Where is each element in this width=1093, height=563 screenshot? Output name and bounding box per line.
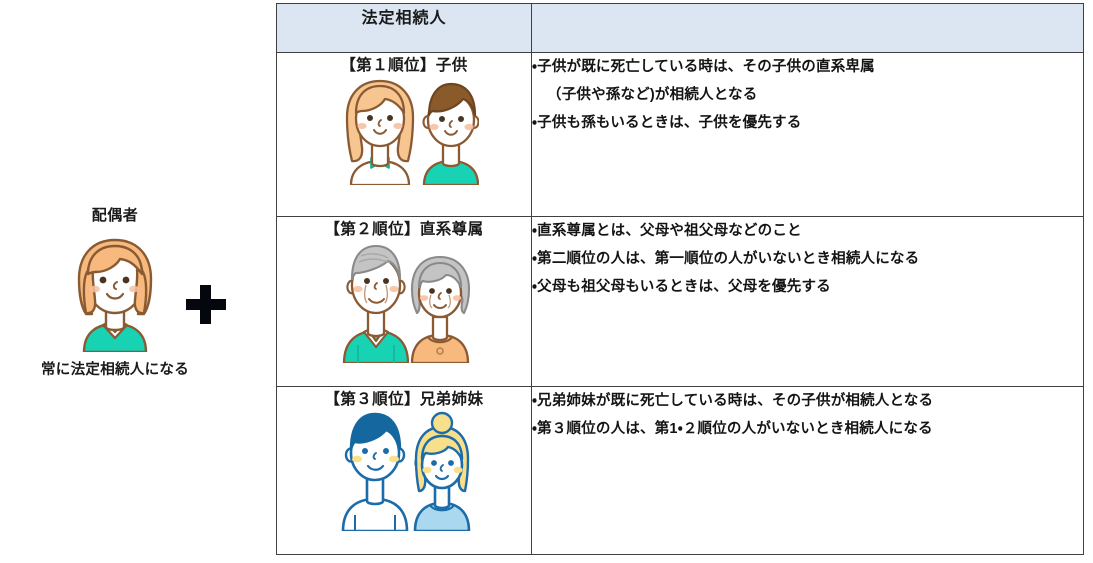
spouse-caption: 常に法定相続人になる — [0, 358, 230, 379]
note-line: ・兄弟姉妹が既に死亡している時は、その子供が相続人となる — [532, 387, 1083, 415]
siblings-figure — [277, 411, 531, 531]
rank-cell-1: 【第１順位】子供 — [277, 53, 532, 217]
header-notes — [532, 4, 1084, 53]
notes-cell-3: ・兄弟姉妹が既に死亡している時は、その子供が相続人となる ・第３順位の人は、第1… — [532, 387, 1084, 555]
notes-cell-2: ・直系尊属とは、父母や祖父母などのこと ・第二順位の人は、第一順位の人がいないと… — [532, 217, 1084, 387]
note-line: ・直系尊属とは、父母や祖父母などのこと — [532, 217, 1083, 245]
note-line: ・第二順位の人は、第一順位の人がいないとき相続人になる — [532, 245, 1083, 273]
spouse-woman-illustration — [62, 234, 168, 352]
children-figure — [277, 77, 531, 185]
plus-bar-vertical — [200, 285, 211, 324]
table-row: 【第２順位】直系尊属 — [277, 217, 1084, 387]
note-line: ・子供が既に死亡している時は、その子供の直系卑属 — [532, 53, 1083, 81]
rank-cell-2: 【第２順位】直系尊属 — [277, 217, 532, 387]
rank-label-3: 【第３順位】兄弟姉妹 — [277, 387, 531, 409]
note-line: ・子供も孫もいるときは、子供を優先する — [532, 109, 1083, 137]
siblings-illustration — [329, 411, 479, 531]
note-line: （子供や孫など)が相続人となる — [532, 81, 1083, 109]
note-line: ・父母も祖父母もいるときは、父母を優先する — [532, 273, 1083, 301]
legal-heir-table: 法定相続人 【第１順位】子供 — [276, 3, 1084, 555]
table-row: 【第１順位】子供 — [277, 53, 1084, 217]
grandparents-illustration — [328, 241, 480, 363]
table-header-row: 法定相続人 — [277, 4, 1084, 53]
plus-sign — [183, 281, 229, 327]
note-line: ・第３順位の人は、第1・２順位の人がいないとき相続人になる — [532, 415, 1083, 443]
notes-cell-1: ・子供が既に死亡している時は、その子供の直系卑属 （子供や孫など)が相続人となる… — [532, 53, 1084, 217]
spouse-title: 配偶者 — [0, 206, 230, 226]
header-legal-heir: 法定相続人 — [277, 4, 532, 53]
table-row: 【第３順位】兄弟姉妹 — [277, 387, 1084, 555]
rank-label-2: 【第２順位】直系尊属 — [277, 217, 531, 239]
children-illustration — [329, 77, 479, 185]
rank-label-1: 【第１順位】子供 — [277, 53, 531, 75]
grandparents-figure — [277, 241, 531, 363]
rank-cell-3: 【第３順位】兄弟姉妹 — [277, 387, 532, 555]
